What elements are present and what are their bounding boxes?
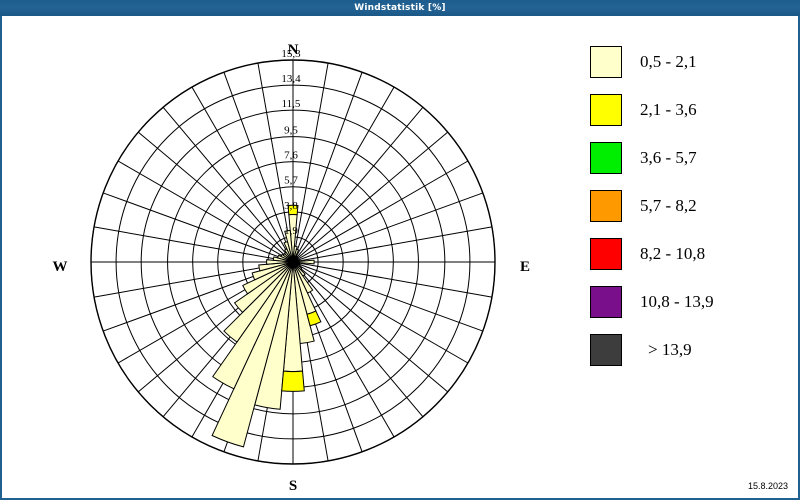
legend-swatch [590,334,622,366]
legend-label: 3,6 - 5,7 [640,148,697,168]
wind-rose-chart: 1,93,85,77,69,511,513,415,3 N E S W [2,16,562,500]
date-stamp: 15.8.2023 [748,481,788,491]
compass-label-west: W [40,259,80,276]
legend-item[interactable]: > 13,9 [572,326,792,374]
legend-label: 0,5 - 2,1 [640,52,697,72]
legend-swatch [590,46,622,78]
compass-label-north: N [273,42,313,59]
legend: 0,5 - 2,12,1 - 3,63,6 - 5,75,7 - 8,28,2 … [572,38,792,374]
legend-label: 2,1 - 3,6 [640,100,697,120]
legend-swatch [590,286,622,318]
svg-text:3,8: 3,8 [284,200,298,212]
legend-item[interactable]: 5,7 - 8,2 [572,182,792,230]
legend-swatch [590,142,622,174]
window-title-bar: Windstatistik [%] [0,0,800,16]
legend-label: 5,7 - 8,2 [640,196,697,216]
legend-label: > 13,9 [648,340,692,360]
legend-swatch [590,190,622,222]
wind-rose-svg: 1,93,85,77,69,511,513,415,3 [2,16,562,500]
legend-item[interactable]: 8,2 - 10,8 [572,230,792,278]
legend-item[interactable]: 3,6 - 5,7 [572,134,792,182]
svg-text:13,4: 13,4 [281,73,301,85]
svg-text:9,5: 9,5 [284,125,298,137]
compass-label-east: E [505,259,545,276]
legend-item[interactable]: 10,8 - 13,9 [572,278,792,326]
compass-label-south: S [273,478,313,495]
windstatistik-window: Windstatistik [%] 1,93,85,77,69,511,513,… [0,0,800,500]
legend-label: 8,2 - 10,8 [640,244,705,264]
legend-swatch [590,238,622,270]
legend-label: 10,8 - 13,9 [640,292,714,312]
legend-swatch [590,94,622,126]
window-client-area: 1,93,85,77,69,511,513,415,3 N E S W 0,5 … [0,16,800,500]
legend-item[interactable]: 2,1 - 3,6 [572,86,792,134]
window-title: Windstatistik [%] [354,3,446,13]
svg-text:1,9: 1,9 [284,225,298,237]
svg-text:7,6: 7,6 [284,150,298,162]
svg-text:11,5: 11,5 [282,98,301,110]
svg-text:5,7: 5,7 [284,175,298,187]
legend-item[interactable]: 0,5 - 2,1 [572,38,792,86]
